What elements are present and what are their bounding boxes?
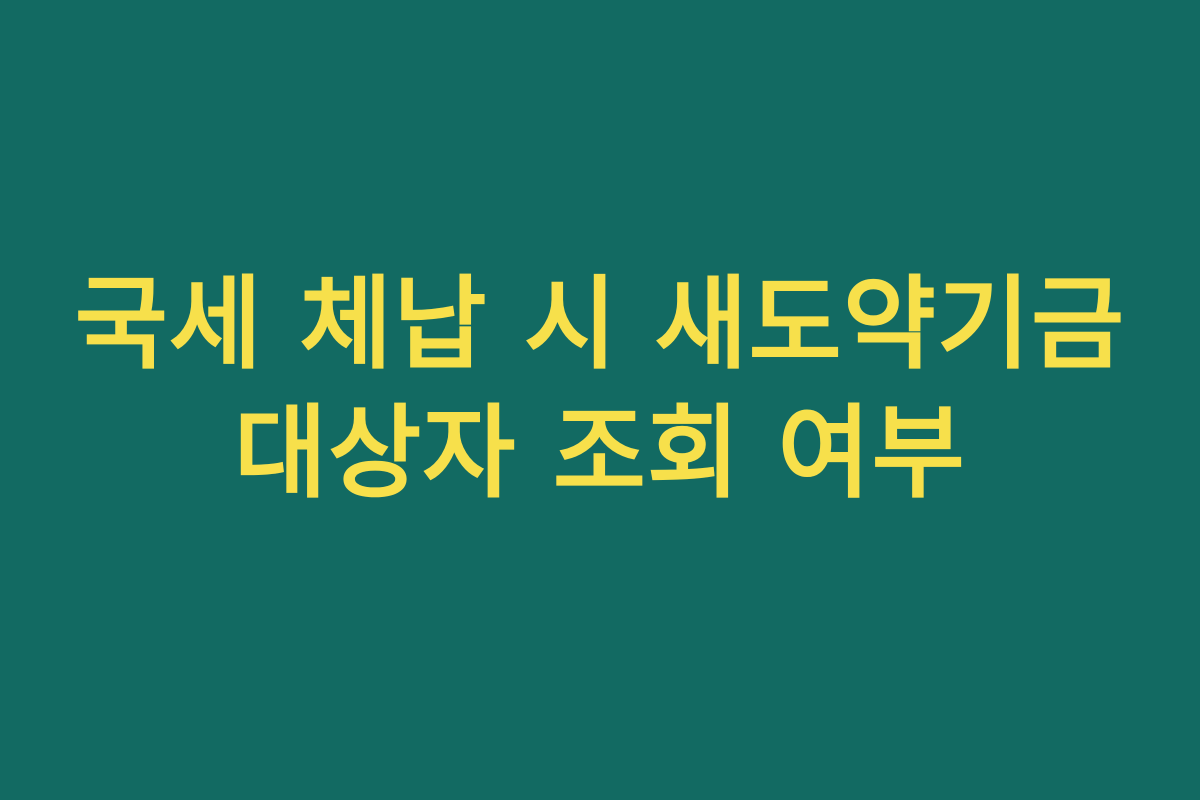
page-title: 국세 체납 시 새도약기금 대상자 조회 여부	[0, 260, 1200, 519]
title-line-2: 대상자 조회 여부	[40, 389, 1160, 518]
title-line-1: 국세 체납 시 새도약기금	[40, 260, 1160, 389]
banner-card: 국세 체납 시 새도약기금 대상자 조회 여부	[0, 0, 1200, 800]
